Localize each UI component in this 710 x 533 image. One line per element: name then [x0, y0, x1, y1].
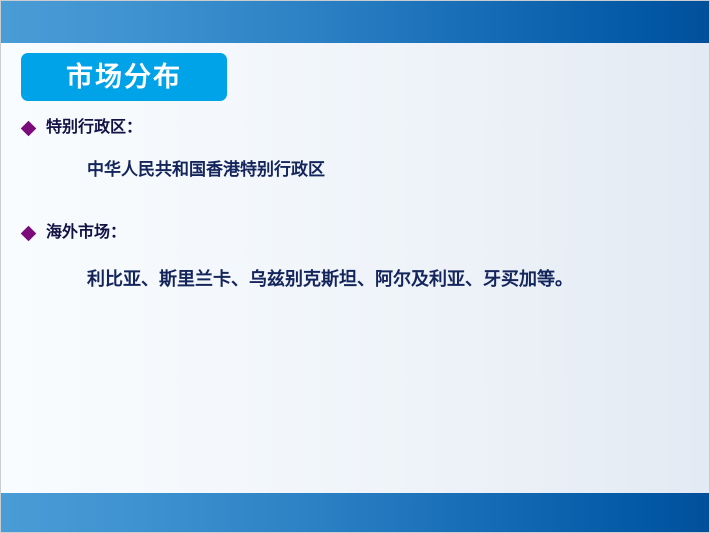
bullet-group-special-administrative-region: 特别行政区： 中华人民共和国香港特别行政区 — [1, 117, 710, 178]
bullet-detail-text: 利比亚、斯里兰卡、乌兹别克斯坦、阿尔及利亚、牙买加等。 — [1, 270, 710, 288]
bullet-group-overseas-market: 海外市场： 利比亚、斯里兰卡、乌兹别克斯坦、阿尔及利亚、牙买加等。 — [1, 222, 710, 288]
bullet-detail-text: 中华人民共和国香港特别行政区 — [1, 161, 710, 178]
slide-title-box: 市场分布 — [21, 53, 227, 101]
diamond-bullet-icon — [21, 225, 37, 241]
bullet-label: 海外市场： — [46, 225, 126, 241]
slide-title-text: 市场分布 — [66, 64, 182, 91]
bullet-row: 海外市场： — [1, 222, 710, 244]
bullet-label: 特别行政区： — [46, 120, 142, 136]
bullet-row: 特别行政区： — [1, 117, 710, 139]
diamond-bullet-icon — [21, 120, 37, 136]
top-decorative-bar — [1, 1, 710, 43]
slide-content: 特别行政区： 中华人民共和国香港特别行政区 海外市场： 利比亚、斯里兰卡、乌兹别… — [1, 109, 710, 288]
presentation-slide: 市场分布 特别行政区： 中华人民共和国香港特别行政区 海外市场： 利比亚、斯里兰… — [0, 0, 710, 533]
bottom-decorative-bar — [1, 493, 710, 533]
